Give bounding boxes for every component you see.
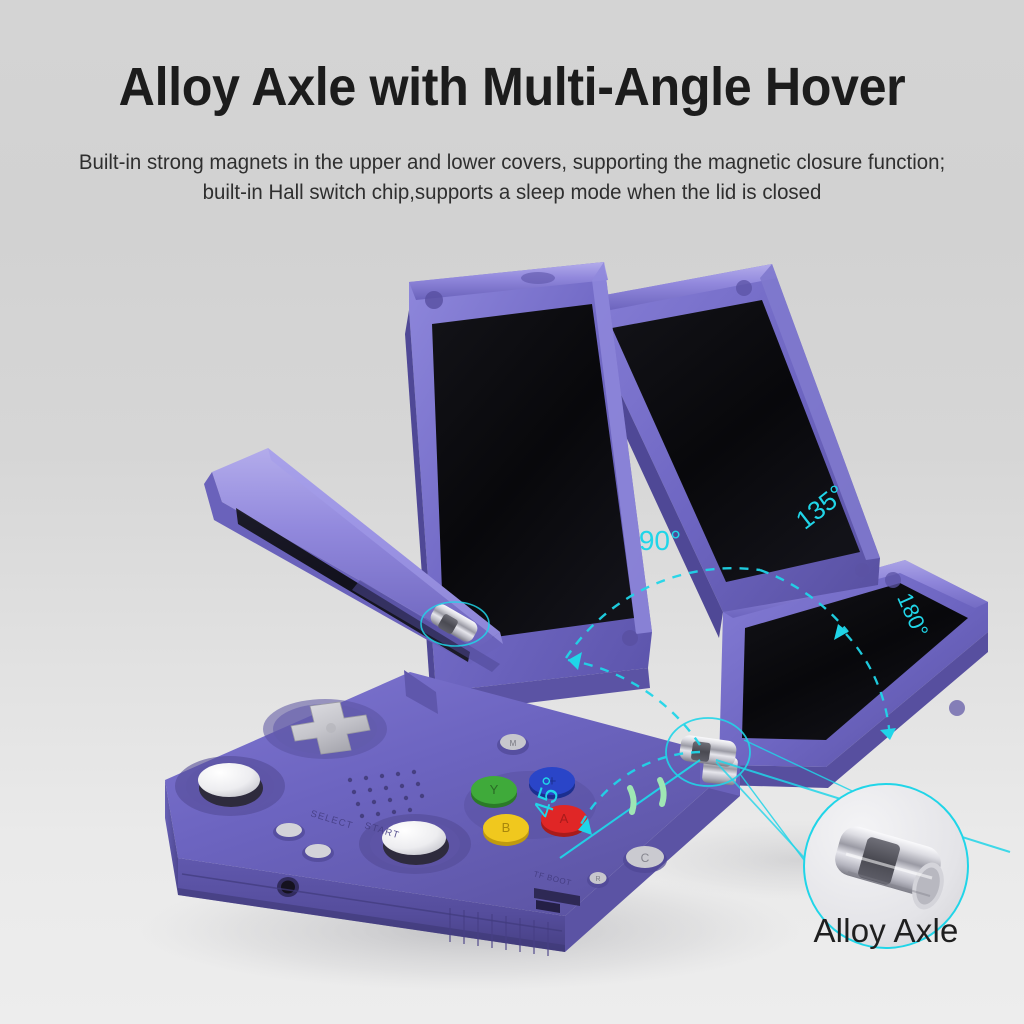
subtitle-line-1: Built-in strong magnets in the upper and… (56, 148, 968, 178)
svg-text:Y: Y (490, 782, 499, 797)
tick-mark (630, 788, 634, 812)
svg-text:A: A (560, 811, 569, 826)
lid-screw-dimple (885, 572, 901, 588)
lid-screw-dimple (949, 700, 965, 716)
lid-screw-dimple (855, 563, 869, 577)
lid-screw-dimple (622, 630, 638, 646)
reset-button: R (587, 872, 609, 888)
angle-90-label: 90° (639, 525, 681, 556)
button-Y: Y (471, 776, 517, 808)
headphone-jack (277, 877, 299, 897)
svg-text:M: M (510, 739, 517, 748)
svg-text:C: C (641, 851, 650, 865)
dpad (263, 699, 387, 759)
button-B: B (483, 814, 529, 846)
analog-stick-left (175, 756, 285, 816)
page-subtitle: Built-in strong magnets in the upper and… (56, 148, 968, 207)
alloy-axle-callout-label: Alloy Axle (786, 912, 986, 950)
tick-mark (660, 780, 664, 804)
page-title: Alloy Axle with Multi-Angle Hover (36, 56, 988, 118)
lid-screw-dimple (425, 291, 443, 309)
product-illustration: SELECT START Y + (0, 240, 1024, 1024)
svg-text:B: B (502, 820, 511, 835)
lid-camera-dimple (521, 272, 555, 284)
lid-screw-dimple (736, 280, 752, 296)
subtitle-line-2: built-in Hall switch chip,supports a sle… (56, 178, 968, 208)
svg-text:R: R (595, 876, 600, 883)
product-marketing-image: Alloy Axle with Multi-Angle Hover Built-… (0, 0, 1024, 1024)
